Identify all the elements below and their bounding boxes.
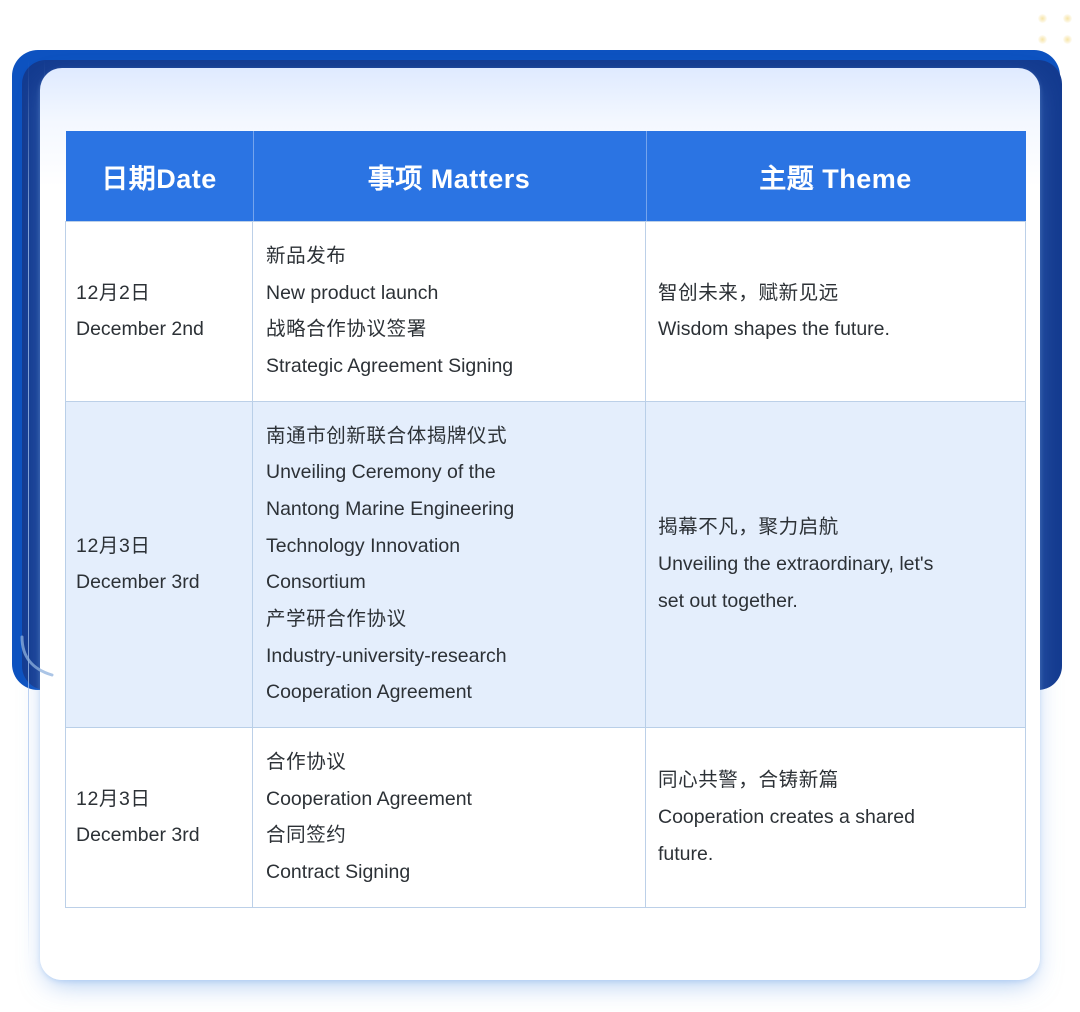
table-header: 日期Date 事项 Matters 主题 Theme: [66, 131, 1026, 222]
cell-date: 12月2日 December 2nd: [66, 222, 253, 402]
matter-line: Consortium: [266, 564, 631, 601]
matter-line: 合作协议: [266, 744, 631, 781]
column-header-date: 日期Date: [66, 131, 253, 222]
table-row: 12月2日 December 2nd 新品发布 New product laun…: [66, 222, 1026, 402]
cell-matters: 新品发布 New product launch 战略合作协议签署 Strateg…: [253, 222, 646, 402]
decorative-dot: [1038, 14, 1047, 23]
table-body: 12月2日 December 2nd 新品发布 New product laun…: [66, 222, 1026, 908]
decorative-dot: [1063, 35, 1072, 44]
cell-theme: 同心共警，合铸新篇 Cooperation creates a shared f…: [646, 727, 1026, 907]
date-line: 12月2日: [76, 275, 238, 312]
matter-line: Unveiling Ceremony of the: [266, 454, 631, 491]
cell-theme: 揭幕不凡，聚力启航 Unveiling the extraordinary, l…: [646, 401, 1026, 727]
theme-line: set out together.: [658, 583, 1011, 620]
column-header-matters: 事项 Matters: [253, 131, 646, 222]
date-line: December 2nd: [76, 311, 238, 348]
matter-line: Contract Signing: [266, 854, 631, 891]
cell-matters: 合作协议 Cooperation Agreement 合同签约 Contract…: [253, 727, 646, 907]
matter-line: 合同签约: [266, 817, 631, 854]
decorative-dot: [1063, 14, 1072, 23]
matter-line: 产学研合作协议: [266, 601, 631, 638]
table-header-row: 日期Date 事项 Matters 主题 Theme: [66, 131, 1026, 222]
cell-date: 12月3日 December 3rd: [66, 401, 253, 727]
cell-date: 12月3日 December 3rd: [66, 727, 253, 907]
decorative-hairline: [28, 60, 29, 960]
decorative-dot-grid: [1030, 8, 1080, 50]
theme-line: 同心共警，合铸新篇: [658, 762, 1011, 799]
matter-line: Strategic Agreement Signing: [266, 348, 631, 385]
matter-line: Industry-university-research: [266, 638, 631, 675]
date-line: December 3rd: [76, 817, 238, 854]
theme-line: Cooperation creates a shared: [658, 799, 1011, 836]
matter-line: Cooperation Agreement: [266, 781, 631, 818]
theme-line: 揭幕不凡，聚力启航: [658, 509, 1011, 546]
theme-line: Unveiling the extraordinary, let's: [658, 546, 1011, 583]
decorative-dot: [1038, 35, 1047, 44]
cell-theme: 智创未来，赋新见远 Wisdom shapes the future.: [646, 222, 1026, 402]
theme-line: 智创未来，赋新见远: [658, 275, 1011, 312]
date-line: 12月3日: [76, 781, 238, 818]
date-line: 12月3日: [76, 528, 238, 565]
matter-line: 战略合作协议签署: [266, 311, 631, 348]
matter-line: Technology Innovation: [266, 528, 631, 565]
theme-line: future.: [658, 836, 1011, 873]
schedule-table-container: 日期Date 事项 Matters 主题 Theme 12月2日 Decembe…: [65, 131, 1025, 908]
matter-line: Nantong Marine Engineering: [266, 491, 631, 528]
column-header-theme: 主题 Theme: [646, 131, 1026, 222]
table-row: 12月3日 December 3rd 南通市创新联合体揭牌仪式 Unveilin…: [66, 401, 1026, 727]
table-row: 12月3日 December 3rd 合作协议 Cooperation Agre…: [66, 727, 1026, 907]
theme-line: Wisdom shapes the future.: [658, 311, 1011, 348]
schedule-table: 日期Date 事项 Matters 主题 Theme 12月2日 Decembe…: [65, 131, 1026, 908]
matter-line: 南通市创新联合体揭牌仪式: [266, 418, 631, 455]
date-line: December 3rd: [76, 564, 238, 601]
matter-line: 新品发布: [266, 238, 631, 275]
matter-line: New product launch: [266, 275, 631, 312]
cell-matters: 南通市创新联合体揭牌仪式 Unveiling Ceremony of the N…: [253, 401, 646, 727]
matter-line: Cooperation Agreement: [266, 674, 631, 711]
